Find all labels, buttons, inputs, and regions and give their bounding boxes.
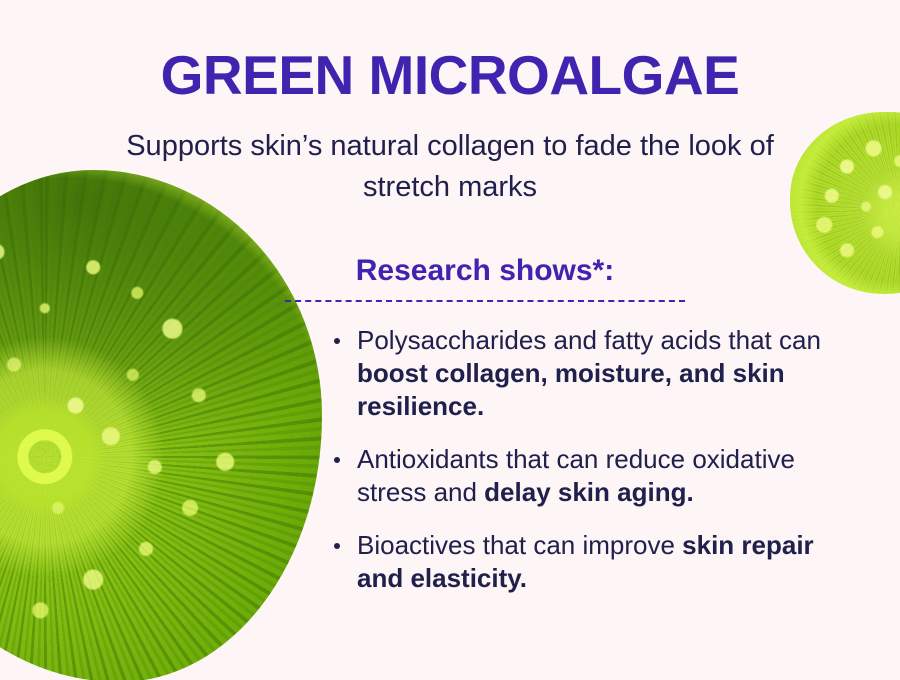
bullet-dot-icon <box>334 543 340 549</box>
content-layer: GREEN MICROALGAE Supports skin’s natural… <box>0 0 900 680</box>
bullet-dot-icon <box>334 457 340 463</box>
infographic-card: GREEN MICROALGAE Supports skin’s natural… <box>0 0 900 680</box>
bullet-text-lead: Bioactives that can improve <box>357 530 682 560</box>
list-item: Antioxidants that can reduce oxidative s… <box>330 443 850 509</box>
research-bullet-list: Polysaccharides and fatty acids that can… <box>330 324 850 595</box>
list-item: Polysaccharides and fatty acids that can… <box>330 324 850 423</box>
bullet-text-emphasis: delay skin aging. <box>484 477 694 507</box>
bullet-text-lead: Polysaccharides and fatty acids that can <box>357 325 821 355</box>
bullet-text-emphasis: boost collagen, moisture, and skin resil… <box>357 358 785 421</box>
page-title: GREEN MICROALGAE <box>0 44 900 106</box>
dashed-divider <box>285 300 685 302</box>
list-item: Bioactives that can improve skin repair … <box>330 529 850 595</box>
page-subtitle: Supports skin’s natural collagen to fade… <box>90 126 810 208</box>
bullet-dot-icon <box>334 338 340 344</box>
research-shows-heading: Research shows*: <box>285 252 685 290</box>
